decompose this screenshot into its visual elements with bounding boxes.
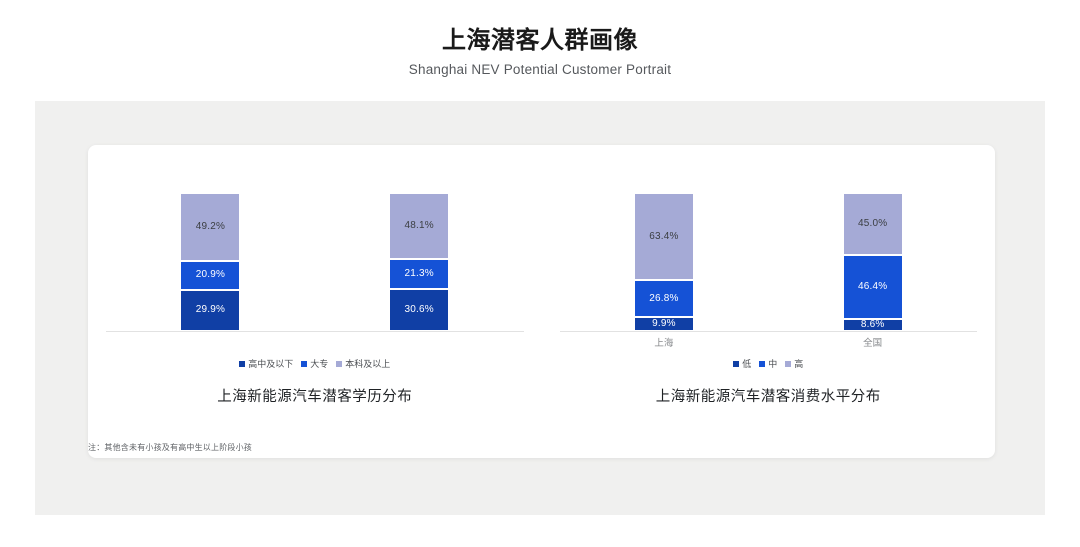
bar-value-label: 48.1% <box>404 221 433 231</box>
bar-segment[interactable]: 21.3% <box>389 259 449 288</box>
legend-item[interactable]: 大专 <box>301 357 328 370</box>
chart-caption: 上海新能源汽车潜客学历分布 <box>88 385 542 406</box>
bar-value-label: 46.4% <box>858 282 887 292</box>
legend-item[interactable]: 中 <box>759 357 777 370</box>
bar-segment[interactable]: 8.6% <box>843 319 903 331</box>
chart-education: 49.2%20.9%29.9%48.1%21.3%30.6%高中及以下大专本科及… <box>88 145 542 458</box>
x-axis-tick-label: 全国 <box>843 335 903 349</box>
bar-segment[interactable]: 45.0% <box>843 193 903 255</box>
chart-consumption: 63.4%26.8%9.9%45.0%46.4%8.6%上海全国低中高上海新能源… <box>542 145 996 458</box>
bar-value-label: 45.0% <box>858 219 887 229</box>
bar-group: 63.4%26.8%9.9%45.0%46.4%8.6% <box>560 193 978 331</box>
x-axis-tick-labels: 上海全国 <box>560 335 978 349</box>
bar-segment[interactable]: 9.9% <box>634 317 694 331</box>
bar-segment[interactable]: 30.6% <box>389 289 449 331</box>
plot-area: 63.4%26.8%9.9%45.0%46.4%8.6% <box>560 193 978 331</box>
legend-label: 低 <box>742 357 751 370</box>
legend-swatch-icon <box>239 361 245 367</box>
bar-value-label: 8.6% <box>861 320 885 330</box>
bar-segment[interactable]: 26.8% <box>634 280 694 317</box>
content-panel: 49.2%20.9%29.9%48.1%21.3%30.6%高中及以下大专本科及… <box>35 101 1045 515</box>
x-axis-line <box>106 331 524 332</box>
chart-caption: 上海新能源汽车潜客消费水平分布 <box>542 385 996 406</box>
x-axis-line <box>560 331 978 332</box>
legend-swatch-icon <box>336 361 342 367</box>
bar-value-label: 20.9% <box>196 270 225 280</box>
bar-group: 49.2%20.9%29.9%48.1%21.3%30.6% <box>106 193 524 331</box>
bar-column[interactable]: 49.2%20.9%29.9% <box>180 193 240 331</box>
bar-segment[interactable]: 20.9% <box>180 261 240 290</box>
legend-swatch-icon <box>301 361 307 367</box>
legend-item[interactable]: 高中及以下 <box>239 357 293 370</box>
page-subtitle: Shanghai NEV Potential Customer Portrait <box>0 56 1080 77</box>
bar-value-label: 9.9% <box>652 319 676 329</box>
legend-label: 中 <box>768 357 777 370</box>
x-axis-tick-label: 上海 <box>634 335 694 349</box>
bar-column[interactable]: 48.1%21.3%30.6% <box>389 193 449 331</box>
bar-column[interactable]: 63.4%26.8%9.9% <box>634 193 694 331</box>
bar-segment[interactable]: 46.4% <box>843 255 903 319</box>
legend-item[interactable]: 高 <box>785 357 803 370</box>
legend-label: 大专 <box>310 357 328 370</box>
footnote: 注：其他含未有小孩及有高中生以上阶段小孩 <box>88 442 252 453</box>
bar-column[interactable]: 45.0%46.4%8.6% <box>843 193 903 331</box>
bar-value-label: 21.3% <box>404 269 433 279</box>
legend-swatch-icon <box>733 361 739 367</box>
bar-value-label: 30.6% <box>404 305 433 315</box>
chart-legend: 低中高 <box>542 357 996 370</box>
charts-row: 49.2%20.9%29.9%48.1%21.3%30.6%高中及以下大专本科及… <box>88 145 995 458</box>
legend-label: 高中及以下 <box>248 357 293 370</box>
bar-segment[interactable]: 49.2% <box>180 193 240 261</box>
legend-label: 本科及以上 <box>345 357 390 370</box>
page-header: 上海潜客人群画像 Shanghai NEV Potential Customer… <box>0 0 1080 77</box>
bar-value-label: 63.4% <box>649 232 678 242</box>
bar-value-label: 49.2% <box>196 222 225 232</box>
legend-swatch-icon <box>785 361 791 367</box>
legend-item[interactable]: 低 <box>733 357 751 370</box>
legend-swatch-icon <box>759 361 765 367</box>
legend-item[interactable]: 本科及以上 <box>336 357 390 370</box>
bar-value-label: 29.9% <box>196 305 225 315</box>
bar-segment[interactable]: 63.4% <box>634 193 694 280</box>
charts-card: 49.2%20.9%29.9%48.1%21.3%30.6%高中及以下大专本科及… <box>88 145 995 458</box>
bar-segment[interactable]: 29.9% <box>180 290 240 331</box>
bar-value-label: 26.8% <box>649 294 678 304</box>
page-title: 上海潜客人群画像 <box>0 0 1080 56</box>
plot-area: 49.2%20.9%29.9%48.1%21.3%30.6% <box>106 193 524 331</box>
bar-segment[interactable]: 48.1% <box>389 193 449 259</box>
legend-label: 高 <box>794 357 803 370</box>
chart-legend: 高中及以下大专本科及以上 <box>88 357 542 370</box>
